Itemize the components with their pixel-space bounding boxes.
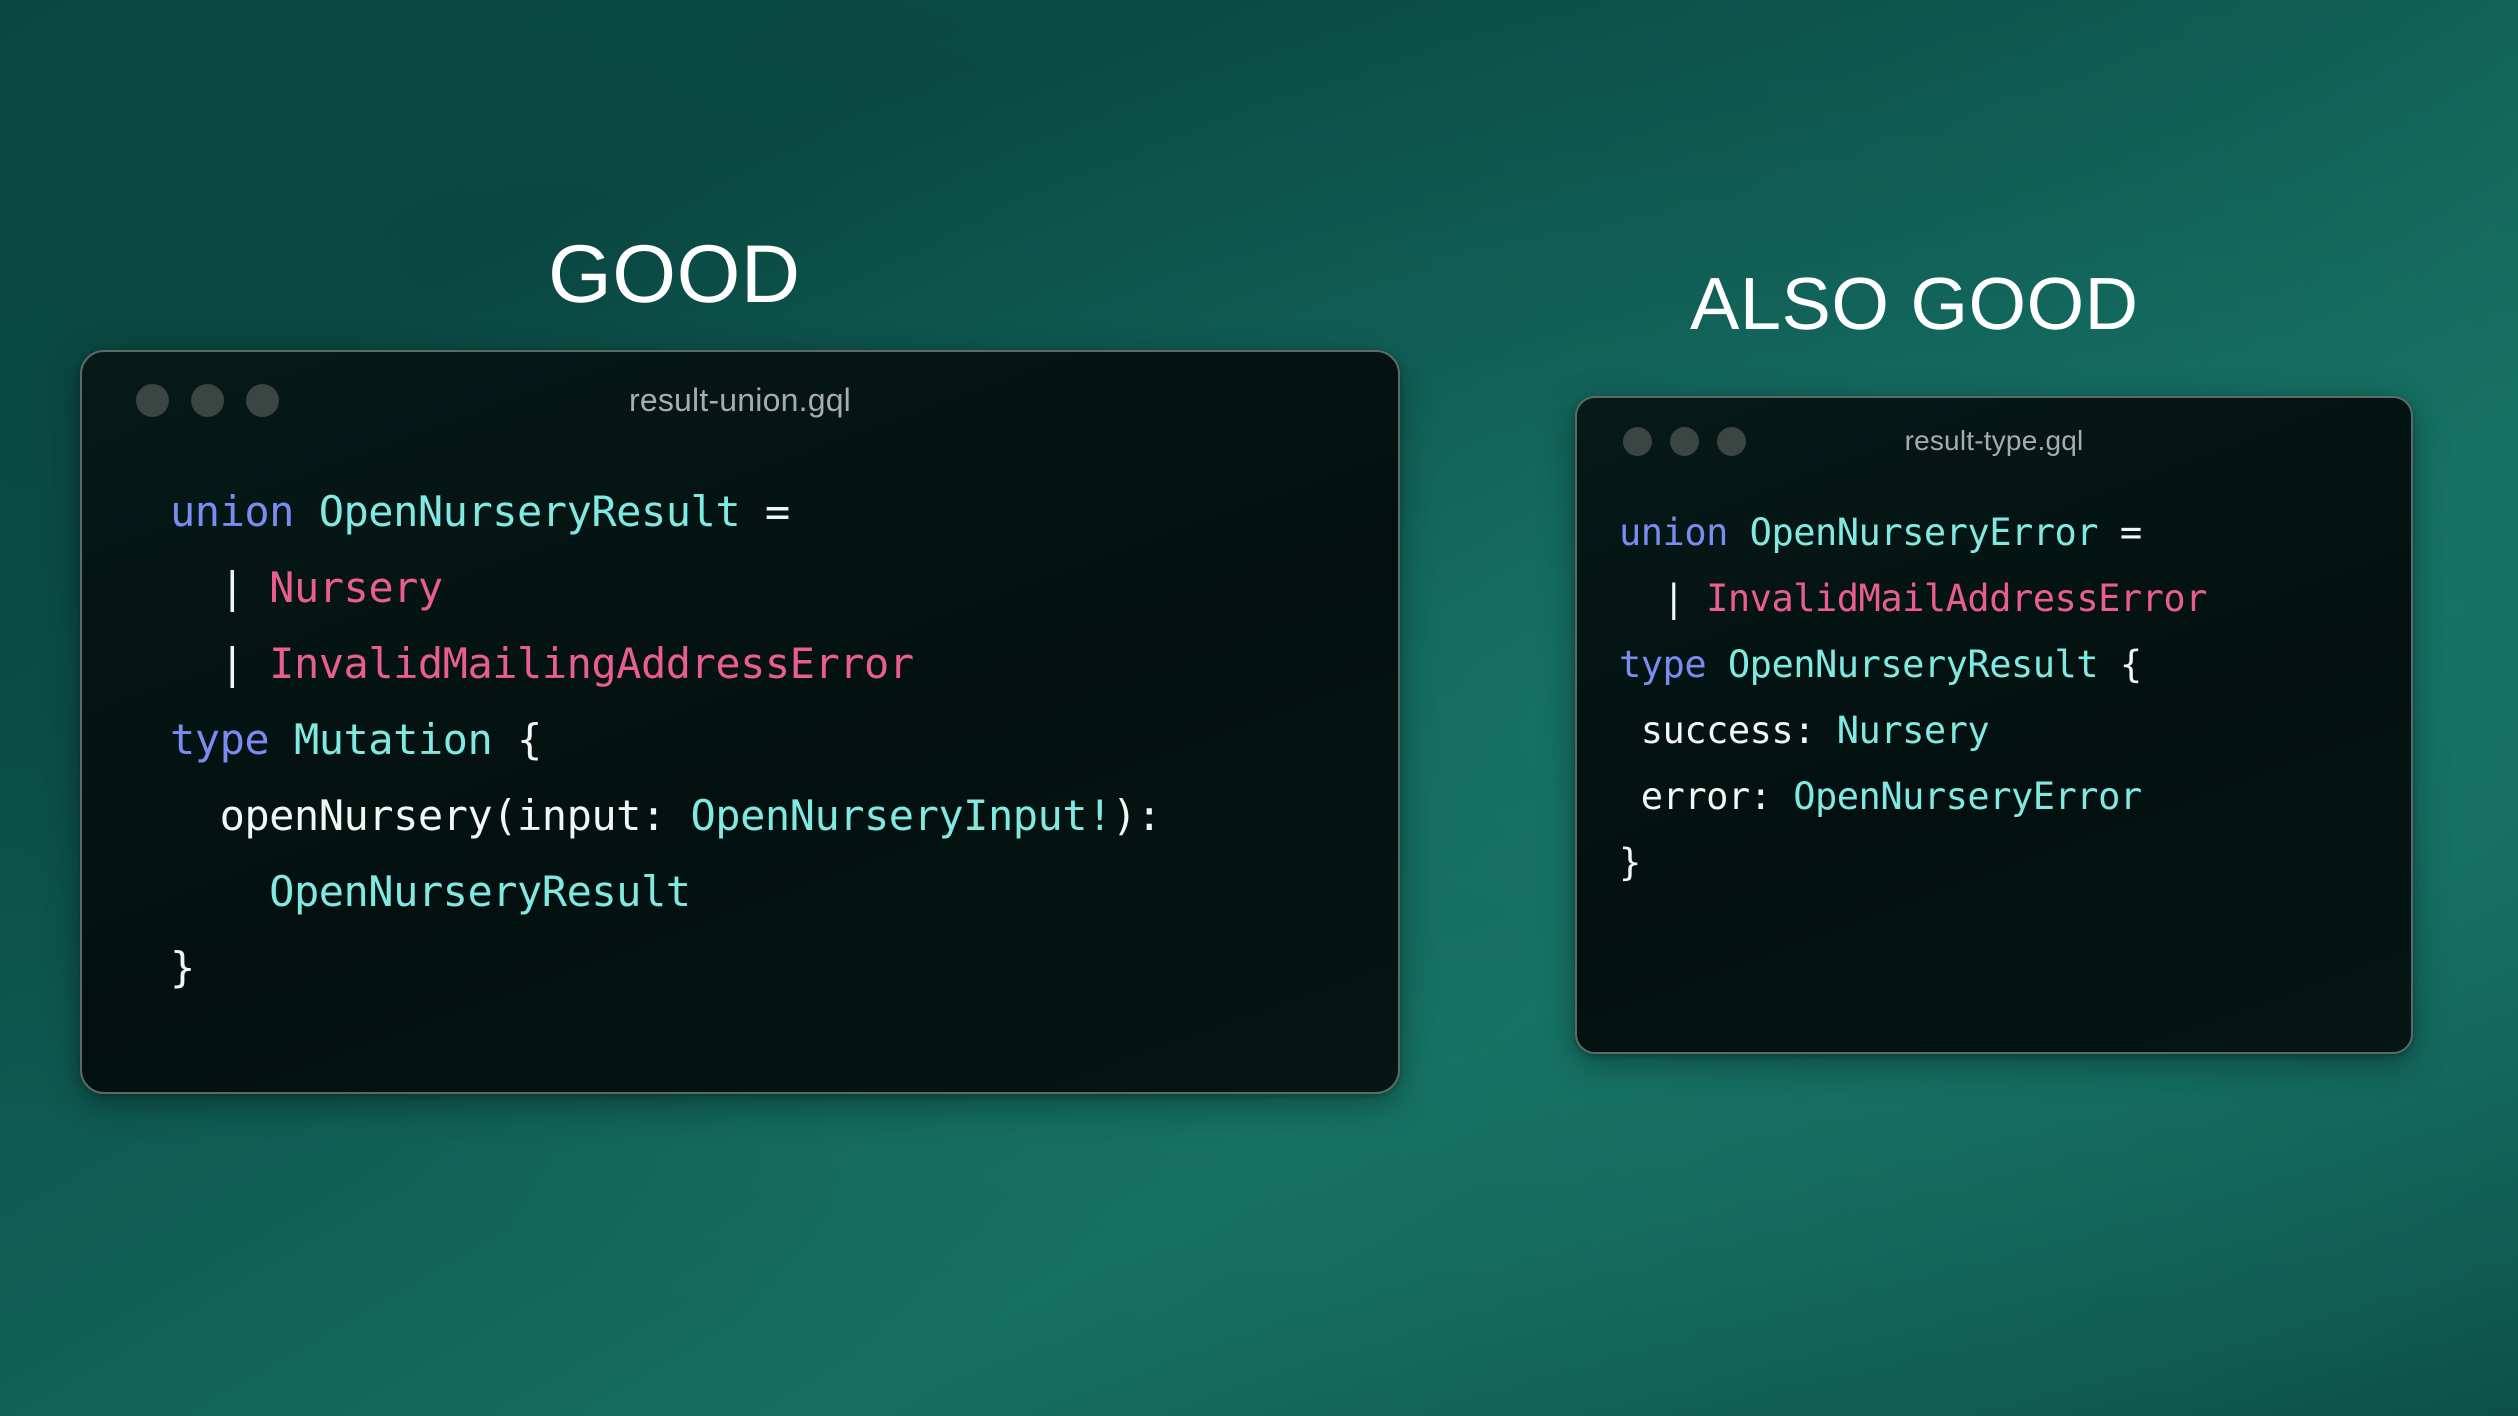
code-token-type: OpenNurseryError — [1793, 775, 2141, 818]
code-token-plain: } — [170, 943, 195, 992]
code-token-type: Nursery — [1837, 709, 1989, 752]
window-filename: result-union.gql — [82, 382, 1398, 419]
code-token-plain — [740, 487, 765, 536]
code-token-plain — [294, 487, 319, 536]
code-token-plain: success: — [1619, 709, 1837, 752]
code-token-member: Nursery — [269, 563, 443, 612]
code-token-keyword: type — [170, 715, 269, 764]
code-token-type: OpenNurseryResult — [1728, 643, 2098, 686]
code-token-plain — [1684, 577, 1706, 620]
code-token-plain: | — [1663, 577, 1685, 620]
code-token-type: Mutation — [294, 715, 492, 764]
panel-heading-also-good: ALSO GOOD — [1690, 266, 2139, 342]
code-token-plain — [170, 867, 269, 916]
code-content-result-union: union OpenNurseryResult = | Nursery | In… — [82, 448, 1398, 1006]
code-token-type: OpenNurseryResult — [269, 867, 690, 916]
code-token-plain: ): — [1112, 791, 1162, 840]
code-token-plain: error: — [1619, 775, 1793, 818]
code-token-plain: openNursery(input: — [170, 791, 691, 840]
code-token-plain: = — [765, 487, 790, 536]
code-token-type: OpenNurseryInput! — [691, 791, 1112, 840]
code-token-plain — [1706, 643, 1728, 686]
code-token-plain — [269, 715, 294, 764]
code-token-plain: | — [220, 563, 245, 612]
code-token-plain: = — [2120, 511, 2142, 554]
code-content-result-type: union OpenNurseryError = | InvalidMailAd… — [1577, 484, 2411, 896]
code-window-result-type: result-type.gql union OpenNurseryError =… — [1575, 396, 2413, 1054]
close-dot-icon[interactable] — [136, 384, 169, 417]
window-titlebar: result-type.gql — [1577, 398, 2411, 484]
panel-heading-good: GOOD — [548, 233, 801, 317]
code-token-plain: { — [2098, 643, 2142, 686]
code-token-keyword: union — [170, 487, 294, 536]
code-token-plain — [1728, 511, 1750, 554]
code-window-result-union: result-union.gql union OpenNurseryResult… — [80, 350, 1400, 1094]
window-titlebar: result-union.gql — [82, 352, 1398, 448]
code-token-keyword: union — [1619, 511, 1728, 554]
minimize-dot-icon[interactable] — [191, 384, 224, 417]
code-token-plain: } — [1619, 841, 1641, 884]
slide-canvas: GOOD result-union.gql union OpenNurseryR… — [0, 0, 2518, 1416]
code-token-type: OpenNurseryError — [1750, 511, 2098, 554]
code-token-plain: | — [220, 639, 245, 688]
code-token-plain — [1619, 577, 1663, 620]
maximize-dot-icon[interactable] — [1717, 427, 1746, 456]
close-dot-icon[interactable] — [1623, 427, 1652, 456]
code-token-member: InvalidMailAddressError — [1706, 577, 2207, 620]
window-controls — [136, 384, 279, 417]
code-token-plain — [170, 563, 220, 612]
code-token-plain: { — [492, 715, 542, 764]
code-token-type: OpenNurseryResult — [319, 487, 740, 536]
code-token-plain — [244, 639, 269, 688]
code-token-member: InvalidMailingAddressError — [269, 639, 913, 688]
minimize-dot-icon[interactable] — [1670, 427, 1699, 456]
code-token-plain — [2098, 511, 2120, 554]
maximize-dot-icon[interactable] — [246, 384, 279, 417]
code-token-keyword: type — [1619, 643, 1706, 686]
window-controls — [1623, 427, 1746, 456]
code-token-plain — [170, 639, 220, 688]
code-token-plain — [244, 563, 269, 612]
